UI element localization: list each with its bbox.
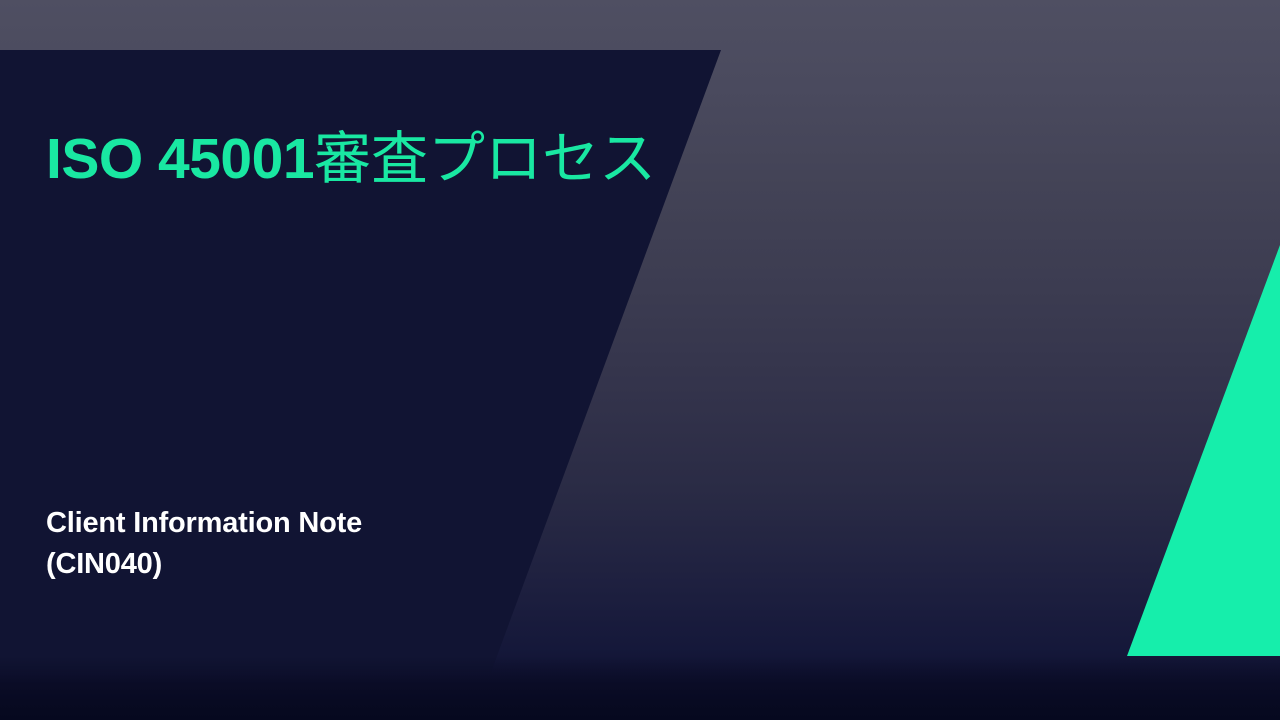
slide-title-cjk: 審査プロセス xyxy=(314,126,656,192)
slide-subtitle-line-2: (CIN040) xyxy=(46,544,646,585)
slide-title: ISO 45001審査プロセス xyxy=(46,126,726,193)
slide-subtitle-line-1: Client Information Note xyxy=(46,503,646,544)
green-accent-triangle-shape xyxy=(1100,220,1280,680)
slide-subtitle: Client Information Note (CIN040) xyxy=(46,503,646,585)
decorative-shapes xyxy=(0,0,1280,720)
bottom-shadow-band xyxy=(0,656,1280,720)
title-slide: ISO 45001審査プロセス Client Information Note … xyxy=(0,0,1280,720)
navy-parallelogram-shape xyxy=(0,0,760,720)
slide-title-latin: ISO 45001 xyxy=(46,127,314,191)
